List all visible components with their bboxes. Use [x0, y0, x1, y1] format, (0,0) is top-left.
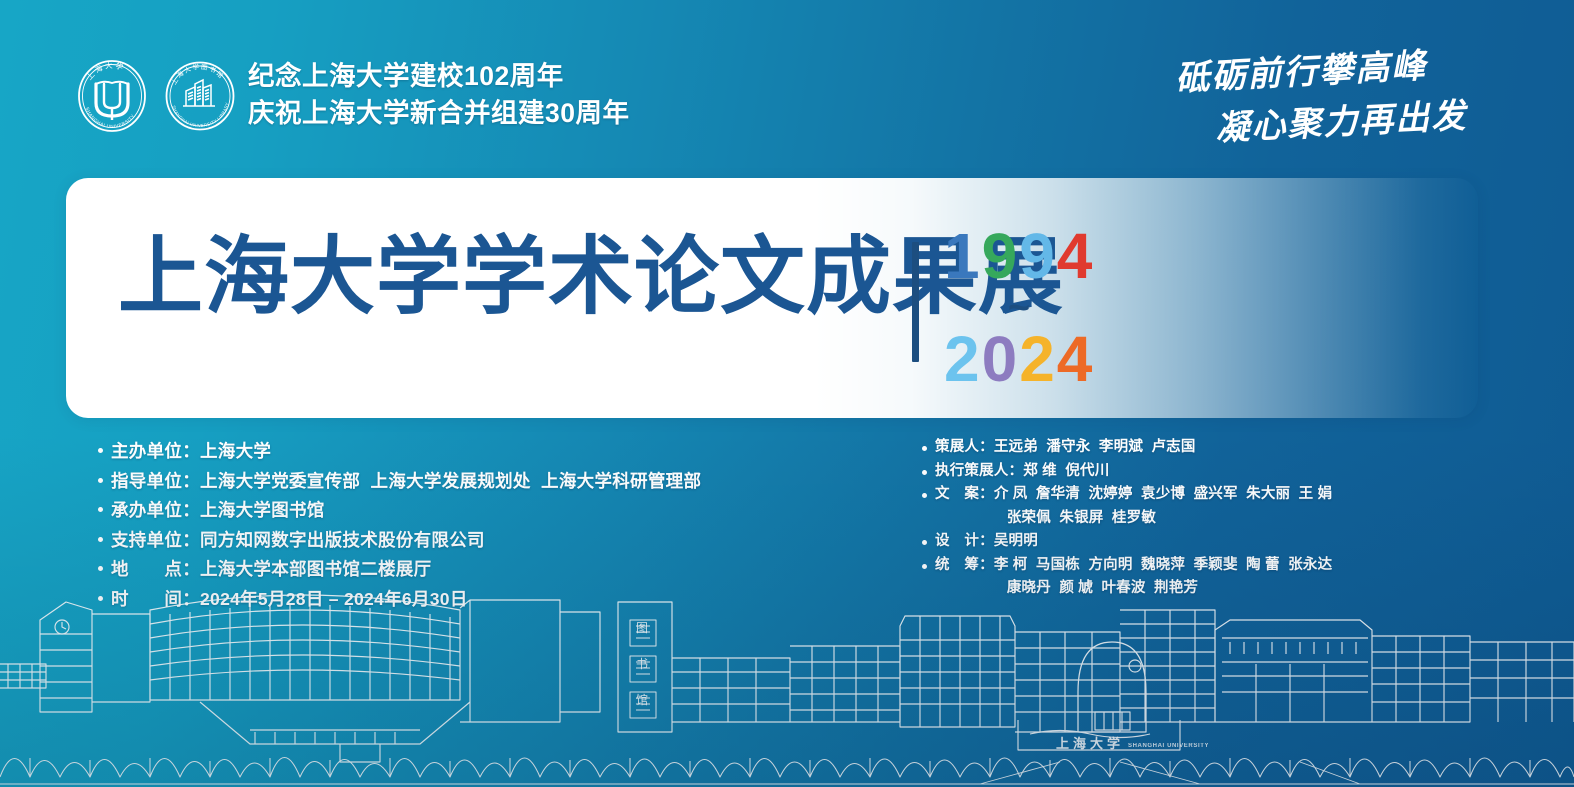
slogan-line-2-text: 凝心聚力再出发 [1214, 96, 1470, 149]
bullet-dot-icon [98, 507, 103, 512]
right-credit-row: 统 筹：李 柯 马国栋 方向明 魏晓萍 季颖斐 陶 蕾 张永达 [922, 554, 1482, 577]
year-range-block: 1994 ~ 2024 [944, 224, 1174, 391]
title-card: 上海大学学术论文成果展 1994 ~ 2024 [66, 178, 1478, 418]
left-credit-value: 上海大学本部图书馆二楼展厅 [200, 556, 431, 582]
right-credit-label: 策展人： [935, 436, 994, 459]
header-title-block: 纪念上海大学建校102周年 庆祝上海大学新合并组建30周年 [248, 58, 629, 132]
year-end-digit-4: 4 [1057, 327, 1095, 391]
right-credit-row: 执行策展人：郑 维 倪代川 [922, 460, 1482, 483]
left-credit-row: 地 点：上海大学本部图书馆二楼展厅 [98, 556, 888, 582]
bullet-dot-icon [922, 564, 927, 569]
bullet-dot-icon [922, 540, 927, 545]
right-credit-value-continued: 康晓丹 颜 虓 叶春波 荆艳芳 [1007, 577, 1198, 600]
year-start-digit-4: 4 [1057, 224, 1095, 288]
skyline-sign-cn: 上海大学 [1056, 736, 1124, 752]
calligraphy-slogan: 砥砺前行攀高峰 凝心聚力再出发 [1168, 48, 1478, 153]
credits-right-column: 策展人：王远弟 潘守永 李明斌 卢志国执行策展人：郑 维 倪代川文 案：介 凤 … [922, 436, 1482, 601]
title-divider [912, 242, 919, 362]
bullet-dot-icon [98, 537, 103, 542]
header-title-line-1: 纪念上海大学建校102周年 [248, 58, 629, 95]
left-credit-row: 支持单位：同方知网数字出版技术股份有限公司 [98, 527, 888, 553]
left-credit-row: 指导单位：上海大学党委宣传部 上海大学发展规划处 上海大学科研管理部 [98, 468, 888, 494]
left-credit-label: 主办单位： [111, 438, 200, 464]
right-credit-row: 文 案：介 凤 詹华清 沈婷婷 袁少博 盛兴军 朱大丽 王 娟 [922, 483, 1482, 506]
year-start-digit-3: 9 [1019, 224, 1057, 288]
page-title: 上海大学学术论文成果展 [118, 230, 1064, 326]
bullet-dot-icon [98, 478, 103, 483]
poster-banner: 上海大学 SHANGHAI UNIVERSITY [0, 0, 1574, 787]
left-credit-row: 主办单位：上海大学 [98, 438, 888, 464]
shanghai-university-library-seal-icon: 上海大学图书馆 SHANGHAI UNIVERSITY LIBRARY [162, 58, 238, 134]
year-start-digit-2: 9 [982, 224, 1020, 288]
left-credit-label: 时 间： [111, 586, 200, 612]
right-credit-label: 文 案： [935, 483, 994, 506]
right-credit-row-continued: 文 案：张荣佩 朱银屏 桂罗敏 [922, 507, 1482, 530]
right-credit-value: 介 凤 詹华清 沈婷婷 袁少博 盛兴军 朱大丽 王 娟 [994, 483, 1333, 506]
year-end-digit-1: 2 [944, 327, 982, 391]
bullet-dot-icon [98, 448, 103, 453]
right-credit-value: 王远弟 潘守永 李明斌 卢志国 [994, 436, 1196, 459]
right-credit-row: 策展人：王远弟 潘守永 李明斌 卢志国 [922, 436, 1482, 459]
left-credit-label: 地 点： [111, 556, 200, 582]
logo-group: 上海大学 SHANGHAI UNIVERSITY [74, 58, 238, 134]
right-credit-row-continued: 统 筹：康晓丹 颜 虓 叶春波 荆艳芳 [922, 577, 1482, 600]
left-credit-label: 指导单位： [111, 468, 200, 494]
right-credit-value: 郑 维 倪代川 [1023, 460, 1109, 483]
year-end-digit-2: 0 [982, 327, 1020, 391]
bullet-dot-icon [922, 470, 927, 475]
right-credit-row: 设 计：吴明明 [922, 530, 1482, 553]
year-tilde: ~ [944, 291, 1094, 325]
bullet-dot-placeholder-icon [935, 517, 940, 522]
left-credit-label: 支持单位： [111, 527, 200, 553]
skyline-sign-en: SHANGHAI UNIVERSITY [1128, 743, 1209, 749]
left-credit-value: 上海大学 [200, 438, 271, 464]
right-credit-value: 李 柯 马国栋 方向明 魏晓萍 季颖斐 陶 蕾 张永达 [994, 554, 1333, 577]
right-credit-label: 执行策展人： [935, 460, 1023, 483]
right-credit-value-continued: 张荣佩 朱银屏 桂罗敏 [1007, 507, 1156, 530]
bullet-dot-icon [98, 596, 103, 601]
skyline-library-char-2: 书 [636, 657, 648, 671]
year-start: 1994 [944, 224, 1174, 288]
left-credit-value: 上海大学党委宣传部 上海大学发展规划处 上海大学科研管理部 [200, 468, 701, 494]
shanghai-university-seal-icon: 上海大学 SHANGHAI UNIVERSITY [74, 58, 150, 134]
left-credit-value: 同方知网数字出版技术股份有限公司 [200, 527, 485, 553]
year-end-digit-3: 2 [1019, 327, 1057, 391]
bullet-dot-icon [922, 493, 927, 498]
skyline-library-char-1: 图 [636, 621, 648, 635]
credits-left-column: 主办单位：上海大学指导单位：上海大学党委宣传部 上海大学发展规划处 上海大学科研… [98, 438, 888, 615]
svg-text:上海大学: 上海大学 [85, 60, 127, 82]
bullet-dot-icon [922, 446, 927, 451]
header-bar: 上海大学 SHANGHAI UNIVERSITY [0, 0, 1574, 170]
left-credit-row: 时 间：2024年5月28日 – 2024年6月30日 [98, 586, 888, 612]
bullet-dot-icon [98, 566, 103, 571]
skyline-library-char-3: 馆 [636, 692, 648, 707]
left-credit-row: 承办单位：上海大学图书馆 [98, 497, 888, 523]
left-credit-value: 上海大学图书馆 [200, 497, 325, 523]
left-credit-label: 承办单位： [111, 497, 200, 523]
right-credit-value: 吴明明 [994, 530, 1038, 553]
right-credit-label: 设 计： [935, 530, 994, 553]
left-credit-value: 2024年5月28日 – 2024年6月30日 [200, 586, 468, 612]
header-title-line-2: 庆祝上海大学新合并组建30周年 [248, 95, 629, 132]
bullet-dot-placeholder-icon [935, 587, 940, 592]
right-credit-label: 统 筹： [935, 554, 994, 577]
year-start-digit-1: 1 [944, 224, 982, 288]
year-end: 2024 [944, 327, 1174, 391]
slogan-line-1-text: 砥砺前行攀高峰 [1174, 48, 1430, 99]
